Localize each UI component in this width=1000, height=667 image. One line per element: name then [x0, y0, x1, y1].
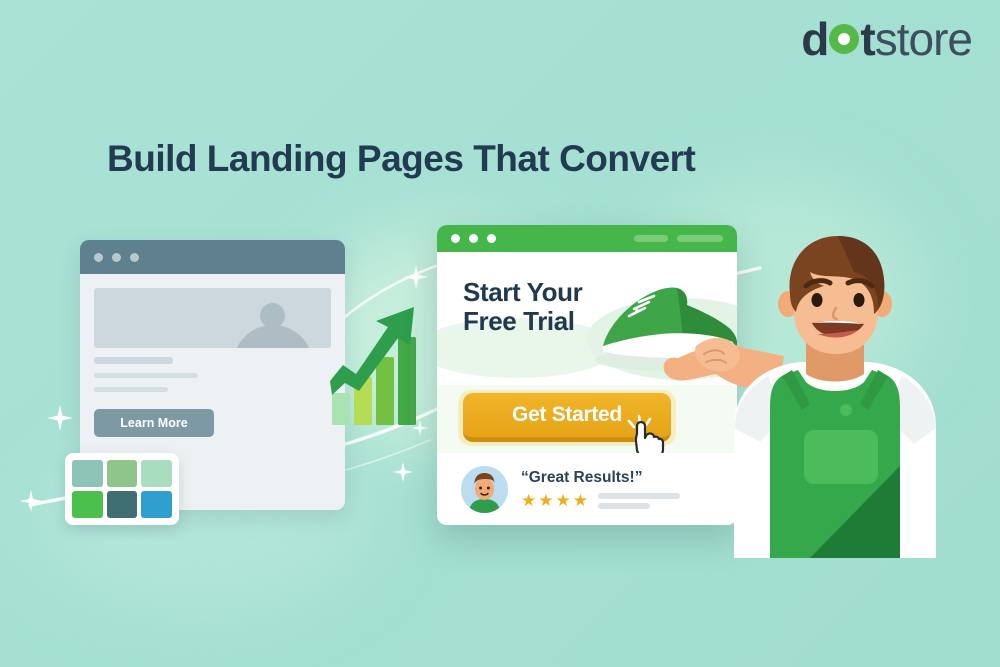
page-title: Build Landing Pages That Convert: [107, 138, 695, 180]
text-line-placeholder: [94, 373, 198, 378]
sparkle-icon: [393, 462, 413, 482]
window-dot-icon: [451, 234, 460, 243]
learn-more-button[interactable]: Learn More: [94, 409, 214, 437]
logo-text-t: t: [860, 16, 874, 62]
logo-text-store: store: [875, 16, 972, 62]
window-dot-icon: [130, 253, 139, 262]
chart-bar: [332, 393, 350, 425]
logo-text-dot: d: [801, 16, 828, 62]
mockup-headline-line2: Free Trial: [463, 307, 582, 336]
color-swatch[interactable]: [141, 491, 172, 518]
color-swatch[interactable]: [72, 460, 103, 487]
mockup-headline-line1: Start Your: [463, 278, 582, 307]
sparkle-icon: [404, 265, 428, 289]
sparkle-icon: [20, 490, 42, 512]
window-dot-icon: [94, 253, 103, 262]
window-dot-icon: [487, 234, 496, 243]
text-line-placeholder: [94, 357, 173, 364]
window-dot-icon: [469, 234, 478, 243]
testimonial-content: “Great Results!” ★ ★ ★ ★: [521, 469, 680, 509]
color-swatch[interactable]: [107, 460, 138, 487]
mockup-headline: Start Your Free Trial: [463, 278, 582, 337]
chart-bar: [376, 357, 394, 425]
avatar: [461, 466, 508, 513]
color-swatch-palette[interactable]: [65, 453, 179, 525]
color-swatch[interactable]: [141, 460, 172, 487]
text-line-placeholder: [94, 387, 168, 392]
logo-green-ring-icon: [829, 24, 859, 54]
mockup-titlebar: [80, 240, 345, 274]
star-icon: ★: [556, 492, 571, 509]
star-rating: ★ ★ ★ ★: [521, 492, 680, 509]
chart-bar: [398, 337, 416, 425]
avatar-illustration: [461, 466, 508, 513]
star-icon: ★: [521, 492, 536, 509]
growth-arrow-chart: [330, 295, 425, 425]
window-dot-icon: [112, 253, 121, 262]
color-swatch[interactable]: [107, 491, 138, 518]
testimonial-quote: “Great Results!”: [521, 469, 680, 487]
image-placeholder: [94, 288, 331, 348]
banner-canvas: d t store Build Landing Pages That Conve…: [0, 0, 1000, 667]
sparkle-icon: [47, 405, 73, 431]
person-body-icon: [233, 325, 313, 348]
dotstore-logo[interactable]: d t store: [801, 16, 972, 62]
color-swatch[interactable]: [72, 491, 103, 518]
mockup-body: Learn More: [80, 274, 345, 451]
star-icon: ★: [538, 492, 553, 509]
smiling-shopkeeper-illustration: [660, 228, 1000, 558]
text-line-placeholder: [598, 503, 650, 509]
star-icon: ★: [573, 492, 588, 509]
